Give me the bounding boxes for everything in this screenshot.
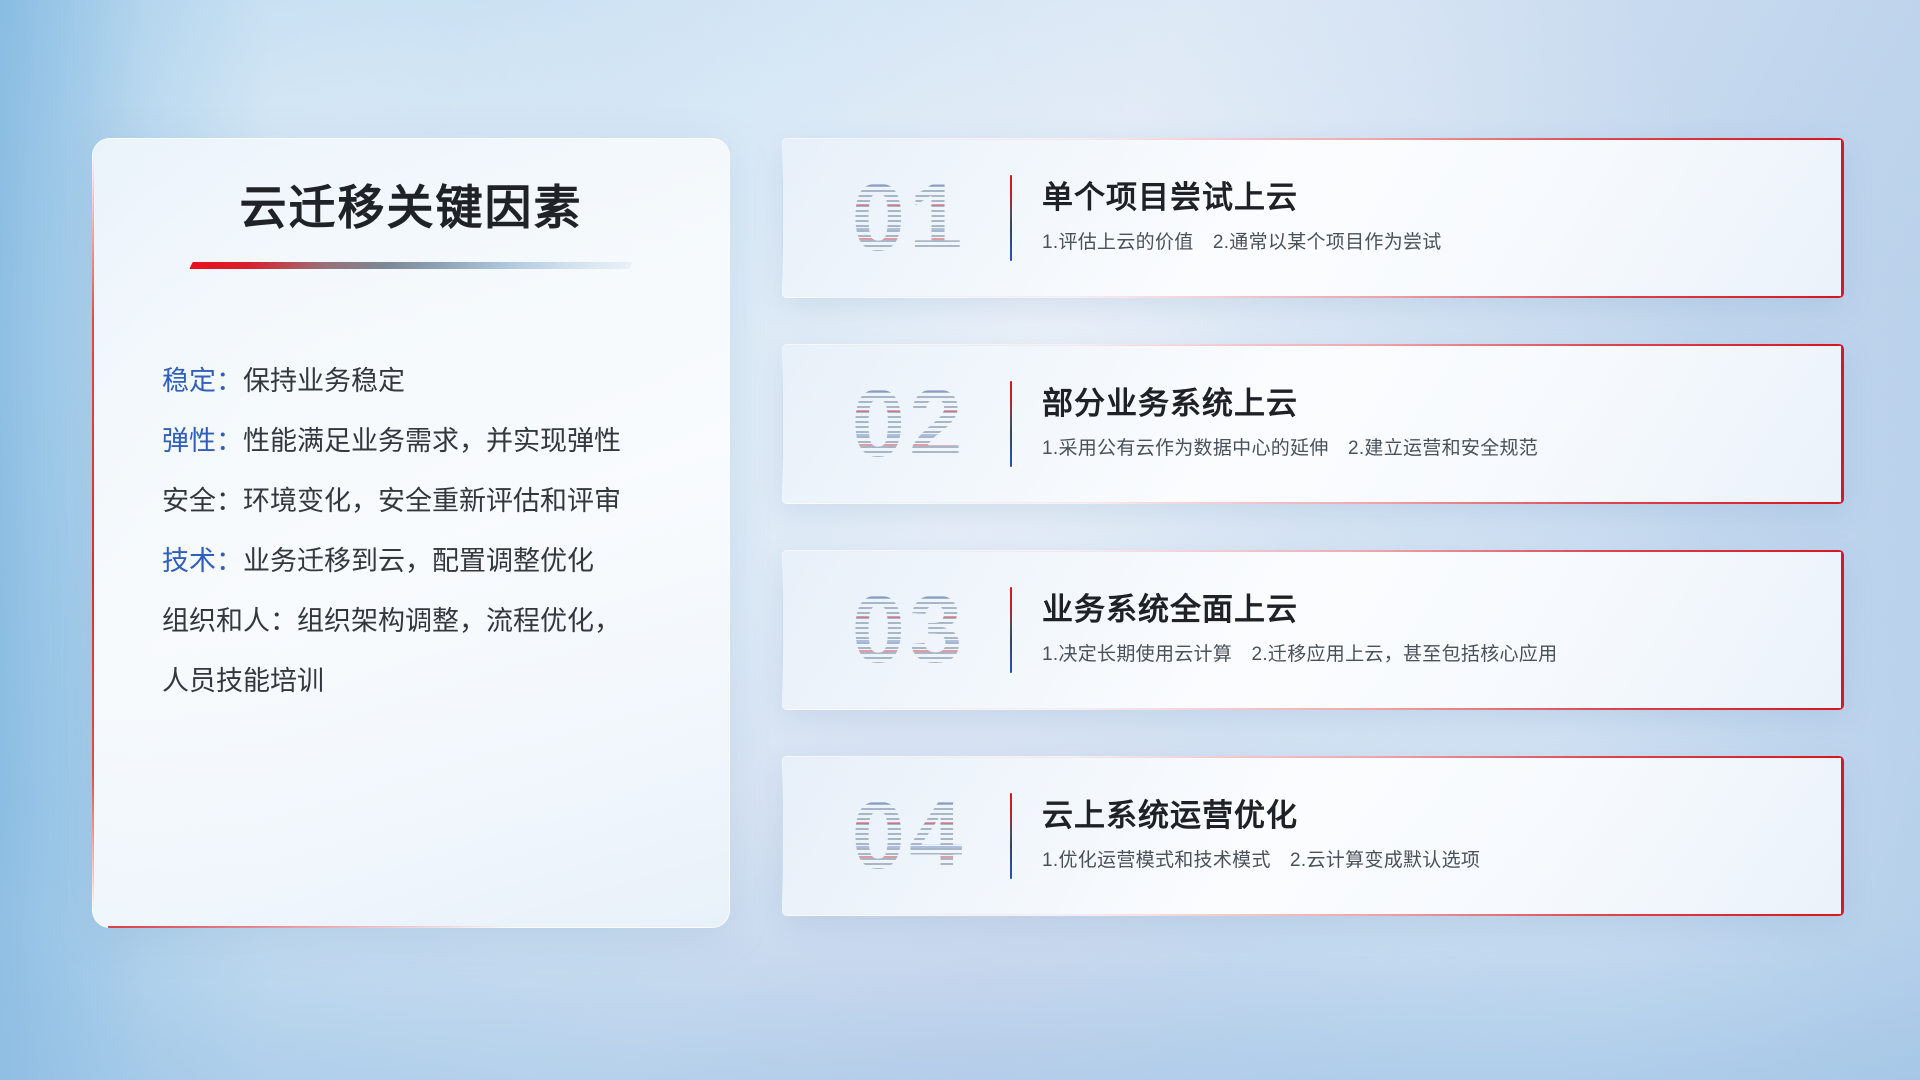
factor-label: 技术：: [162, 546, 243, 576]
card-top-accent-line: [782, 138, 1844, 140]
card-bottom-accent-line: [782, 502, 1844, 504]
factor-label: 弹性：: [162, 426, 243, 456]
step-description: 1.决定长期使用云计算 2.迁移应用上云，甚至包括核心应用: [1042, 642, 1818, 669]
factor-value: 组织架构调整，流程优化，: [297, 606, 621, 636]
step-number-glyph: 03: [782, 582, 1010, 678]
factor-value: 保持业务稳定: [243, 366, 405, 396]
step-number-glyph: 04: [782, 788, 1010, 884]
card-top-accent-line: [782, 344, 1844, 346]
title-underline-gradient: [189, 262, 632, 269]
step-title: 业务系统全面上云: [1042, 591, 1818, 630]
migration-steps-list: 01 单个项目尝试上云 1.评估上云的价值 2.通常以某个项目作为尝试 02 部…: [782, 138, 1844, 1080]
step-number-glyph: 01: [782, 170, 1010, 266]
step-text-block: 单个项目尝试上云 1.评估上云的价值 2.通常以某个项目作为尝试: [1012, 179, 1844, 256]
step-card-03[interactable]: 03 业务系统全面上云 1.决定长期使用云计算 2.迁移应用上云，甚至包括核心应…: [782, 550, 1844, 710]
step-text-block: 部分业务系统上云 1.采用公有云作为数据中心的延伸 2.建立运营和安全规范: [1012, 385, 1844, 462]
factor-value: 环境变化，安全重新评估和评审: [243, 486, 621, 516]
step-text-block: 云上系统运营优化 1.优化运营模式和技术模式 2.云计算变成默认选项: [1012, 797, 1844, 874]
factor-value: 业务迁移到云，配置调整优化: [243, 546, 594, 576]
factor-row: 组织和人：组织架构调整，流程优化，: [162, 591, 674, 651]
card-right-accent-line: [1841, 756, 1844, 916]
factor-list: 稳定：保持业务稳定 弹性：性能满足业务需求，并实现弹性 安全：环境变化，安全重新…: [148, 351, 674, 711]
factor-value: 性能满足业务需求，并实现弹性: [243, 426, 621, 456]
step-card-01[interactable]: 01 单个项目尝试上云 1.评估上云的价值 2.通常以某个项目作为尝试: [782, 138, 1844, 298]
card-right-accent-line: [1841, 550, 1844, 710]
slide-stage: 云迁移关键因素 稳定：保持业务稳定 弹性：性能满足业务需求，并实现弹性 安全：环…: [0, 0, 1920, 1080]
key-factors-panel: 云迁移关键因素 稳定：保持业务稳定 弹性：性能满足业务需求，并实现弹性 安全：环…: [92, 138, 730, 928]
step-description: 1.优化运营模式和技术模式 2.云计算变成默认选项: [1042, 848, 1818, 875]
factor-label: 组织和人：: [162, 606, 297, 636]
factor-row: 稳定：保持业务稳定: [162, 351, 674, 411]
panel-title: 云迁移关键因素: [148, 180, 674, 236]
step-card-04[interactable]: 04 云上系统运营优化 1.优化运营模式和技术模式 2.云计算变成默认选项: [782, 756, 1844, 916]
factor-value: 人员技能培训: [162, 666, 324, 696]
card-right-accent-line: [1841, 138, 1844, 298]
factor-row-continuation: 人员技能培训: [162, 651, 674, 711]
card-top-accent-line: [782, 756, 1844, 758]
panel-content: 云迁移关键因素 稳定：保持业务稳定 弹性：性能满足业务需求，并实现弹性 安全：环…: [92, 138, 730, 711]
panel-bottom-accent-bar: [108, 926, 513, 928]
card-top-accent-line: [782, 550, 1844, 552]
step-title: 云上系统运营优化: [1042, 797, 1818, 836]
step-number-glyph: 02: [782, 376, 1010, 472]
factor-row: 技术：业务迁移到云，配置调整优化: [162, 531, 674, 591]
card-right-accent-line: [1841, 344, 1844, 504]
step-card-02[interactable]: 02 部分业务系统上云 1.采用公有云作为数据中心的延伸 2.建立运营和安全规范: [782, 344, 1844, 504]
step-description: 1.采用公有云作为数据中心的延伸 2.建立运营和安全规范: [1042, 436, 1818, 463]
card-bottom-accent-line: [782, 914, 1844, 916]
card-bottom-accent-line: [782, 708, 1844, 710]
step-text-block: 业务系统全面上云 1.决定长期使用云计算 2.迁移应用上云，甚至包括核心应用: [1012, 591, 1844, 668]
card-bottom-accent-line: [782, 296, 1844, 298]
step-title: 单个项目尝试上云: [1042, 179, 1818, 218]
factor-label: 安全：: [162, 486, 243, 516]
factor-label: 稳定：: [162, 366, 243, 396]
step-description: 1.评估上云的价值 2.通常以某个项目作为尝试: [1042, 230, 1818, 257]
factor-row: 安全：环境变化，安全重新评估和评审: [162, 471, 674, 531]
step-title: 部分业务系统上云: [1042, 385, 1818, 424]
factor-row: 弹性：性能满足业务需求，并实现弹性: [162, 411, 674, 471]
